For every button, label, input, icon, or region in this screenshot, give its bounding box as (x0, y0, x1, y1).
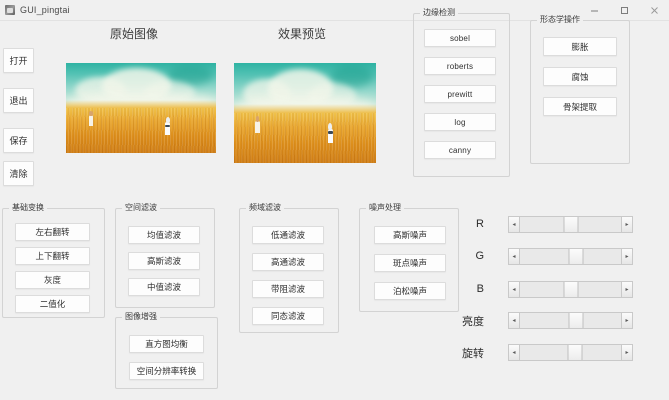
binarize-button[interactable]: 二值化 (15, 295, 90, 313)
panel-title-morphology: 形态学操作 (537, 15, 583, 25)
slider-label-g: G (458, 250, 484, 262)
canny-button[interactable]: canny (424, 141, 496, 159)
slider-brightness-right-arrow-icon[interactable]: ▸ (621, 313, 632, 328)
slider-brightness-left-arrow-icon[interactable]: ◂ (509, 313, 520, 328)
slider-r-left-arrow-icon[interactable]: ◂ (509, 217, 520, 232)
sobel-button[interactable]: sobel (424, 29, 496, 47)
slider-label-brightness: 亮度 (450, 313, 484, 329)
slider-label-b: B (458, 283, 484, 295)
window-controls (579, 0, 669, 20)
bandstop-filter-button[interactable]: 带阻滤波 (252, 280, 324, 298)
slider-b-left-arrow-icon[interactable]: ◂ (509, 282, 520, 297)
original-image-title: 原始图像 (110, 25, 158, 42)
poisson-noise-button[interactable]: 泊松噪声 (374, 282, 446, 300)
prewitt-button[interactable]: prewitt (424, 85, 496, 103)
slider-r-track[interactable] (520, 217, 621, 232)
window-title: GUI_pingtai (20, 5, 70, 15)
panel-image-enhance: 图像增强 直方图均衡 空间分辨率转换 (115, 317, 218, 389)
highpass-filter-button[interactable]: 高通滤波 (252, 253, 324, 271)
slider-g[interactable]: ◂ ▸ (508, 248, 633, 265)
status-strip (0, 394, 669, 400)
slider-label-rotation: 旋转 (450, 345, 484, 361)
slider-g-right-arrow-icon[interactable]: ▸ (621, 249, 632, 264)
slider-b-right-arrow-icon[interactable]: ▸ (621, 282, 632, 297)
slider-rotation-right-arrow-icon[interactable]: ▸ (621, 345, 632, 360)
slider-b-track[interactable] (520, 282, 621, 297)
slider-g-track[interactable] (520, 249, 621, 264)
slider-rotation-thumb[interactable] (567, 345, 582, 360)
panel-title-spatial-filter: 空间滤波 (122, 203, 160, 213)
panel-title-frequency-filter: 频域滤波 (246, 203, 284, 213)
flip-vertical-button[interactable]: 上下翻转 (15, 247, 90, 265)
slider-g-left-arrow-icon[interactable]: ◂ (509, 249, 520, 264)
slider-b[interactable]: ◂ ▸ (508, 281, 633, 298)
application-window: GUI_pingtai 原始图像 效果预览 (0, 0, 669, 400)
panel-morphology: 形态学操作 膨胀 腐蚀 骨架提取 (530, 20, 630, 164)
slider-b-thumb[interactable] (563, 282, 578, 297)
gaussian-filter-button[interactable]: 高斯滤波 (128, 252, 200, 270)
lowpass-filter-button[interactable]: 低通滤波 (252, 226, 324, 244)
mean-filter-button[interactable]: 均值滤波 (128, 226, 200, 244)
panel-noise-process: 噪声处理 高斯噪声 斑点噪声 泊松噪声 (359, 208, 459, 312)
slider-brightness[interactable]: ◂ ▸ (508, 312, 633, 329)
slider-rotation-track[interactable] (520, 345, 621, 360)
slider-brightness-track[interactable] (520, 313, 621, 328)
panel-title-basic-transform: 基础变换 (9, 203, 47, 213)
open-button[interactable]: 打开 (3, 48, 34, 73)
save-button[interactable]: 保存 (3, 128, 34, 153)
slider-label-r: R (458, 218, 484, 230)
panel-title-edge-detect: 边缘检测 (420, 8, 458, 18)
original-image-content (66, 63, 216, 153)
panel-spatial-filter: 空间滤波 均值滤波 高斯滤波 中值滤波 (115, 208, 215, 308)
close-icon[interactable] (639, 0, 669, 20)
panel-basic-transform: 基础变换 左右翻转 上下翻转 灰度 二值化 (2, 208, 105, 318)
slider-r[interactable]: ◂ ▸ (508, 216, 633, 233)
gaussian-noise-button[interactable]: 高斯噪声 (374, 226, 446, 244)
preview-image-axes[interactable] (234, 63, 376, 163)
slider-r-thumb[interactable] (563, 217, 578, 232)
spatial-resolution-button[interactable]: 空间分辨率转换 (129, 362, 204, 380)
panel-frequency-filter: 频域滤波 低通滤波 高通滤波 带阻滤波 同态滤波 (239, 208, 339, 333)
exit-button[interactable]: 退出 (3, 88, 34, 113)
slider-brightness-thumb[interactable] (568, 313, 583, 328)
slider-rotation[interactable]: ◂ ▸ (508, 344, 633, 361)
erode-button[interactable]: 腐蚀 (543, 67, 617, 86)
matlab-figure-icon (5, 5, 15, 15)
slider-r-right-arrow-icon[interactable]: ▸ (621, 217, 632, 232)
minimize-icon[interactable] (579, 0, 609, 20)
original-image-axes[interactable] (66, 63, 216, 153)
panel-title-image-enhance: 图像增强 (122, 312, 160, 322)
panel-title-noise-process: 噪声处理 (366, 203, 404, 213)
median-filter-button[interactable]: 中值滤波 (128, 278, 200, 296)
skeleton-button[interactable]: 骨架提取 (543, 97, 617, 116)
homomorphic-filter-button[interactable]: 同态滤波 (252, 307, 324, 325)
dilate-button[interactable]: 膨胀 (543, 37, 617, 56)
grayscale-button[interactable]: 灰度 (15, 271, 90, 289)
flip-horizontal-button[interactable]: 左右翻转 (15, 223, 90, 241)
preview-image-content (234, 63, 376, 163)
preview-image-title: 效果预览 (278, 25, 326, 42)
log-button[interactable]: log (424, 113, 496, 131)
maximize-icon[interactable] (609, 0, 639, 20)
slider-g-thumb[interactable] (568, 249, 583, 264)
speckle-noise-button[interactable]: 斑点噪声 (374, 254, 446, 272)
slider-rotation-left-arrow-icon[interactable]: ◂ (509, 345, 520, 360)
roberts-button[interactable]: roberts (424, 57, 496, 75)
histogram-equalize-button[interactable]: 直方图均衡 (129, 335, 204, 353)
clear-button[interactable]: 清除 (3, 161, 34, 186)
panel-edge-detect: 边缘检测 sobel roberts prewitt log canny (413, 13, 510, 177)
